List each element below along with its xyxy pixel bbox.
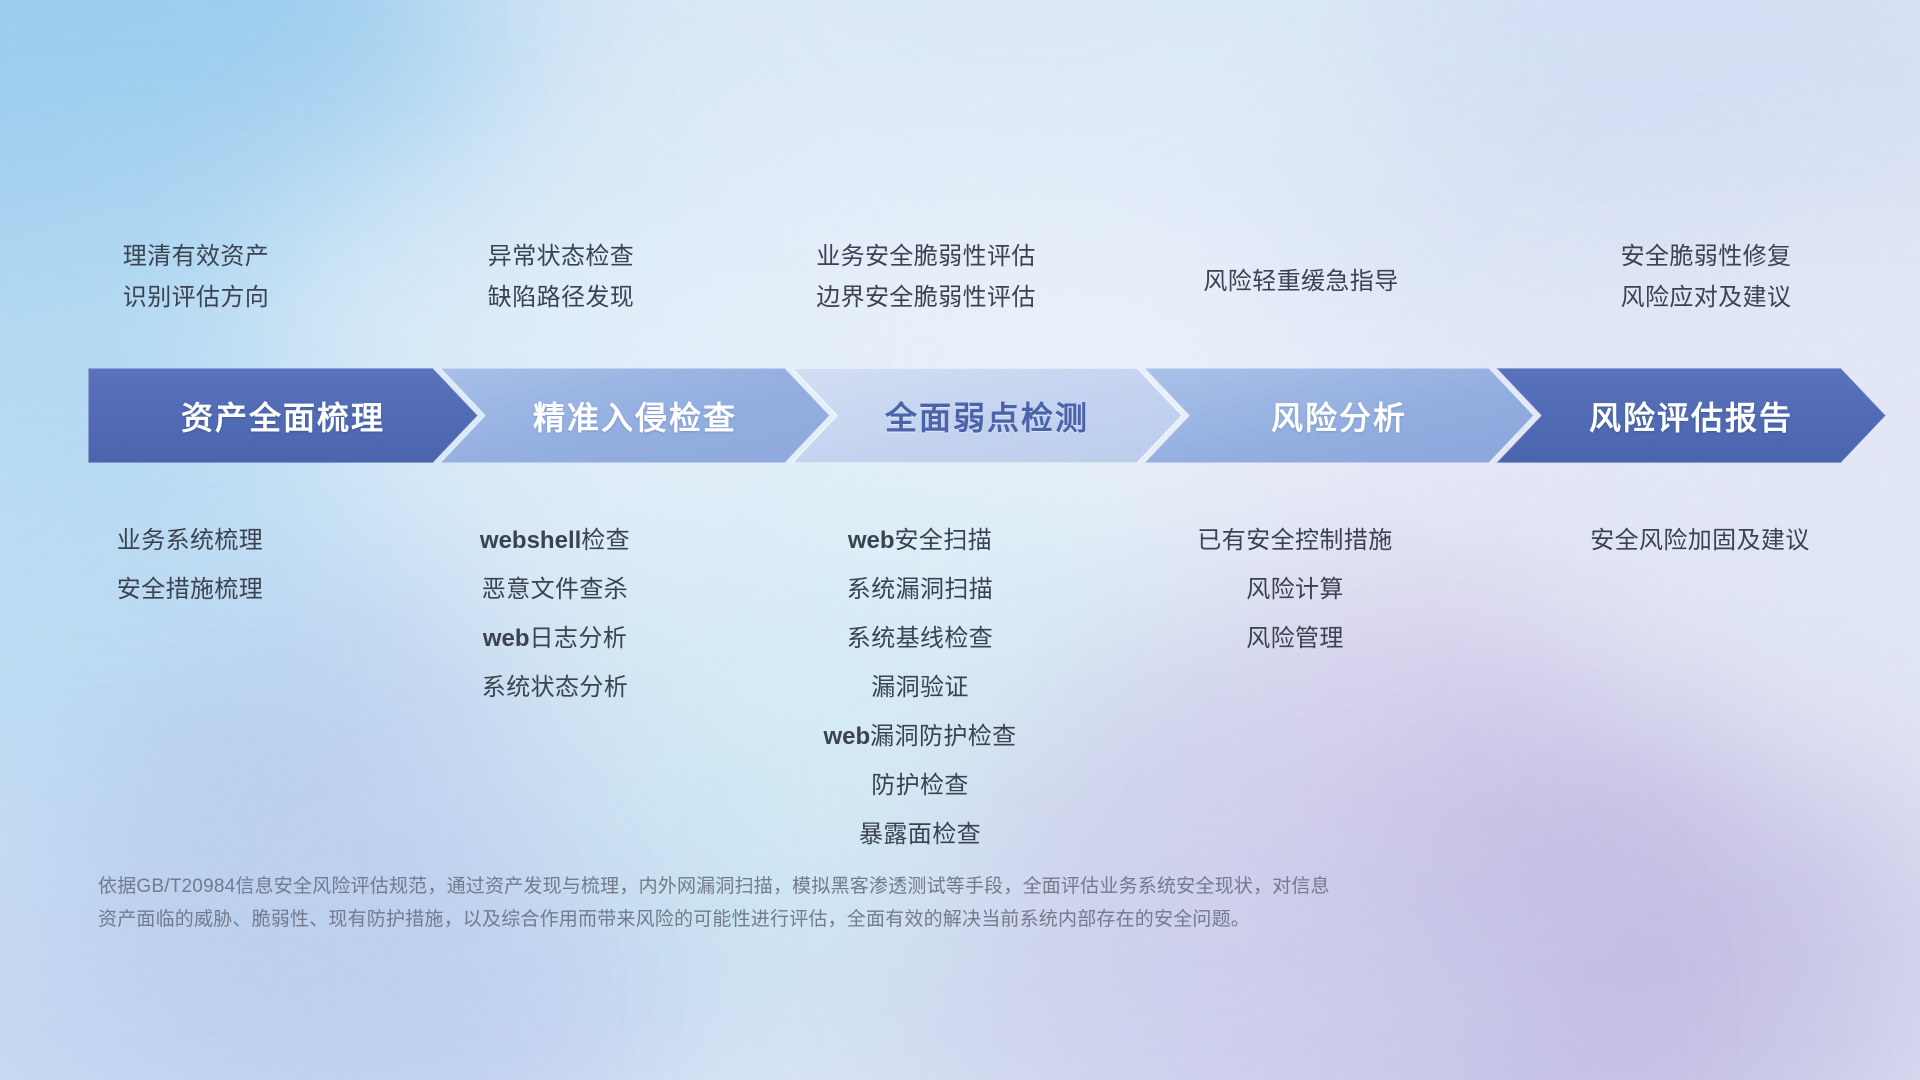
footer-line: 资产面临的威胁、脆弱性、现有防护措施，以及综合作用而带来风险的可能性进行评估，全… [98, 903, 1638, 936]
note-item: 安全脆弱性修复 [1486, 236, 1920, 277]
bottom-notes-asset-inventory: 业务系统梳理 安全措施梳理 [0, 500, 380, 614]
bottom-notes-weakness-detection: web安全扫描 系统漏洞扫描 系统基线检查 漏洞验证 web漏洞防护检查 防护检… [730, 500, 1110, 859]
top-notes-risk-report: 安全脆弱性修复 风险应对及建议 [1486, 236, 1920, 318]
note-item-prefix: webshell [480, 527, 581, 554]
note-item: 边界安全脆弱性评估 [736, 277, 1116, 318]
note-item: web漏洞防护检查 [730, 712, 1110, 761]
note-item: 异常状态检查 [386, 236, 736, 277]
bottom-notes-row: 业务系统梳理 安全措施梳理 webshell检查 恶意文件查杀 web日志分析 … [0, 500, 1920, 859]
stage-label: 风险评估报告 [1589, 393, 1793, 439]
note-item: 安全风险加固及建议 [1480, 516, 1920, 565]
note-item: 风险轻重缓急指导 [1116, 261, 1486, 302]
process-arrow-band: 资产全面梳理 [88, 368, 1843, 463]
note-item-text: 漏洞防护检查 [870, 723, 1016, 750]
note-item-prefix: web [848, 527, 895, 554]
note-item: 安全措施梳理 [0, 565, 380, 614]
note-item: 风险应对及建议 [1486, 277, 1920, 318]
note-item: web日志分析 [380, 614, 730, 663]
note-item: 防护检查 [730, 761, 1110, 810]
note-item-text: 日志分析 [530, 625, 628, 652]
note-item-text: 安全扫描 [895, 527, 993, 554]
top-notes-asset-inventory: 理清有效资产 识别评估方向 [6, 236, 386, 318]
note-item: 暴露面检查 [730, 810, 1110, 859]
note-item-text: 检查 [581, 527, 630, 554]
stage-label: 精准入侵检查 [533, 393, 737, 439]
bottom-notes-risk-analysis: 已有安全控制措施 风险计算 风险管理 [1110, 500, 1480, 663]
note-item: webshell检查 [380, 516, 730, 565]
note-item: 业务系统梳理 [0, 516, 380, 565]
stage-arrow-weakness-detection[interactable]: 全面弱点检测 [792, 368, 1182, 463]
top-notes-intrusion-check: 异常状态检查 缺陷路径发现 [386, 236, 736, 318]
stage-label: 全面弱点检测 [885, 393, 1089, 439]
note-item-prefix: web [483, 625, 530, 652]
stage-label: 风险分析 [1271, 393, 1407, 439]
top-notes-risk-analysis: 风险轻重缓急指导 [1116, 236, 1486, 318]
note-item-prefix: web [823, 723, 870, 750]
note-item: 风险计算 [1110, 565, 1480, 614]
note-item: 恶意文件查杀 [380, 565, 730, 614]
stage-label: 资产全面梳理 [181, 393, 385, 439]
stage-arrow-risk-analysis[interactable]: 风险分析 [1144, 368, 1534, 463]
footer-description: 依据GB/T20984信息安全风险评估规范，通过资产发现与梳理，内外网漏洞扫描，… [98, 870, 1638, 936]
footer-line: 依据GB/T20984信息安全风险评估规范，通过资产发现与梳理，内外网漏洞扫描，… [98, 870, 1638, 903]
note-item: 识别评估方向 [6, 277, 386, 318]
bottom-notes-intrusion-check: webshell检查 恶意文件查杀 web日志分析 系统状态分析 [380, 500, 730, 712]
bottom-notes-risk-report: 安全风险加固及建议 [1480, 500, 1920, 565]
stage-arrow-risk-report[interactable]: 风险评估报告 [1496, 368, 1886, 463]
note-item: 业务安全脆弱性评估 [736, 236, 1116, 277]
stage-arrow-intrusion-check[interactable]: 精准入侵检查 [440, 368, 830, 463]
note-item: 理清有效资产 [6, 236, 386, 277]
note-item: 系统状态分析 [380, 663, 730, 712]
slide-canvas: 理清有效资产 识别评估方向 异常状态检查 缺陷路径发现 业务安全脆弱性评估 边界… [0, 0, 1920, 1080]
note-item: 系统漏洞扫描 [730, 565, 1110, 614]
top-notes-row: 理清有效资产 识别评估方向 异常状态检查 缺陷路径发现 业务安全脆弱性评估 边界… [0, 236, 1920, 318]
note-item: web安全扫描 [730, 516, 1110, 565]
note-item: 风险管理 [1110, 614, 1480, 663]
note-item: 漏洞验证 [730, 663, 1110, 712]
top-notes-weakness-detection: 业务安全脆弱性评估 边界安全脆弱性评估 [736, 236, 1116, 318]
note-item: 缺陷路径发现 [386, 277, 736, 318]
note-item: 已有安全控制措施 [1110, 516, 1480, 565]
stage-arrow-asset-inventory[interactable]: 资产全面梳理 [88, 368, 478, 463]
note-item: 系统基线检查 [730, 614, 1110, 663]
